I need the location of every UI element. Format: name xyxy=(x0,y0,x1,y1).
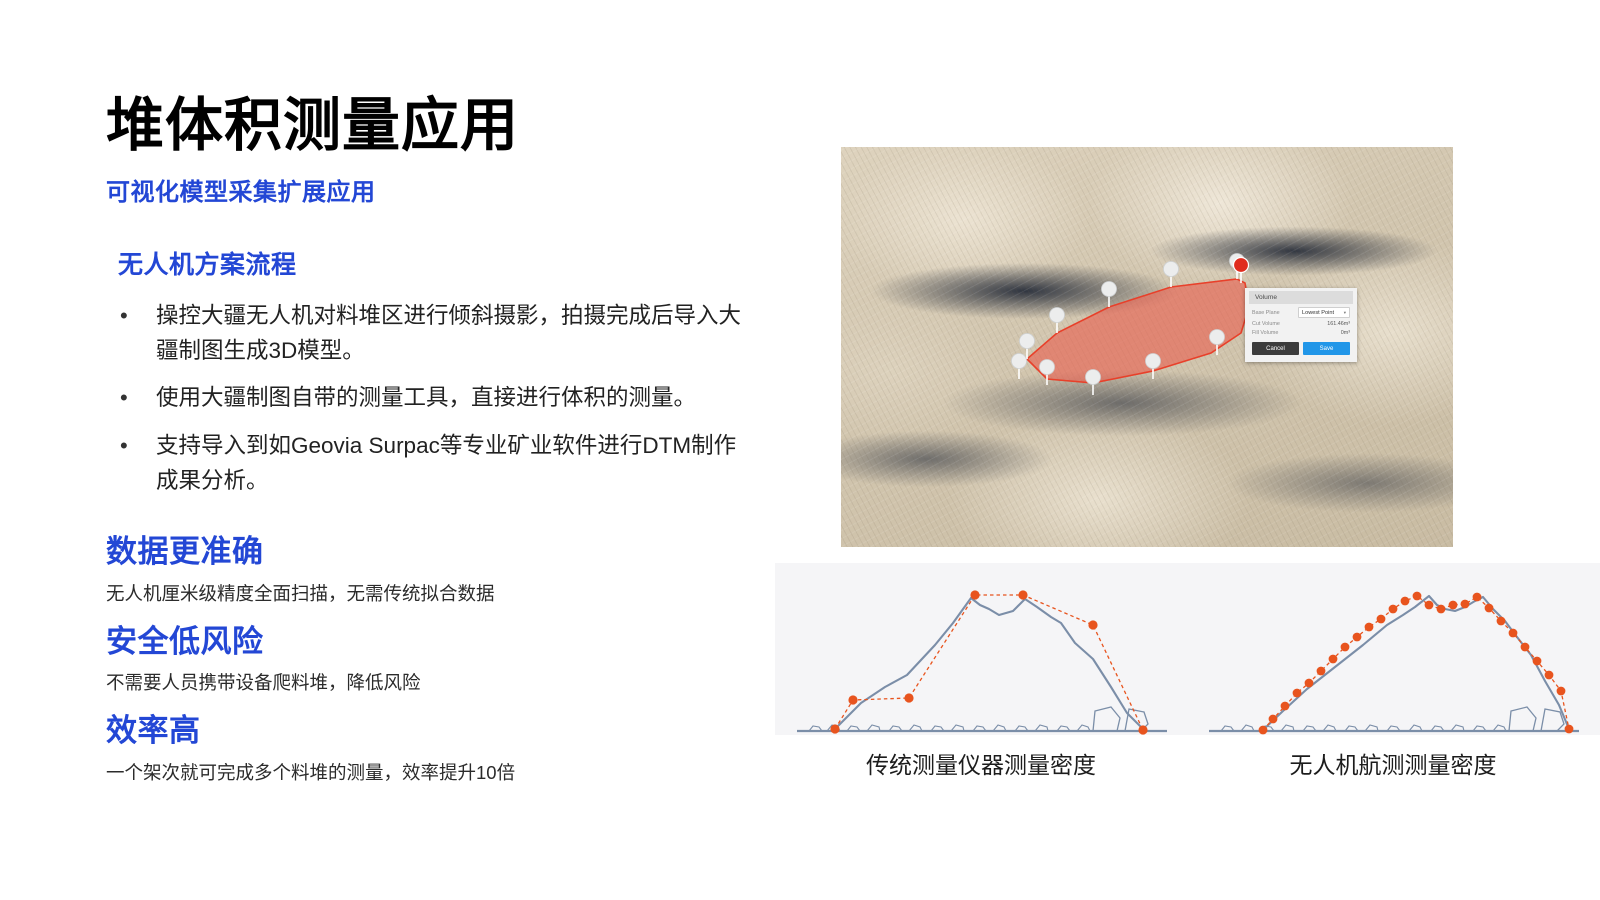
benefit-title: 效率高 xyxy=(106,712,746,751)
bullet-dot-icon: • xyxy=(120,299,128,333)
measurement-overlay-svg xyxy=(841,147,1453,547)
cut-volume-label: Cut Volume xyxy=(1252,321,1280,327)
list-item: • 支持导入到如Geovia Surpac等专业矿业软件进行DTM制作成果分析。 xyxy=(106,429,746,499)
benefit-title: 安全低风险 xyxy=(106,623,746,662)
terrain-profile-line xyxy=(835,598,1143,729)
chevron-down-icon: ▾ xyxy=(1344,310,1346,316)
caption-drone: 无人机航测测量密度 xyxy=(1187,746,1599,780)
workflow-bullet-list: • 操控大疆无人机对料堆区进行倾斜摄影，拍摄完成后导入大疆制图生成3D模型。 •… xyxy=(106,299,746,499)
section-heading-workflow: 无人机方案流程 xyxy=(118,245,746,281)
slide-root: 堆体积测量应用 可视化模型采集扩展应用 无人机方案流程 • 操控大疆无人机对料堆… xyxy=(0,0,1600,900)
aerial-photo-panel: Volume Base Plane Lowest Point ▾ Cut Vol… xyxy=(841,147,1453,547)
benefit-description: 无人机厘米级精度全面扫描，无需传统拟合数据 xyxy=(106,581,746,607)
bullet-dot-icon: • xyxy=(120,429,128,463)
benefit-title: 数据更准确 xyxy=(106,533,746,572)
right-media-column: Volume Base Plane Lowest Point ▾ Cut Vol… xyxy=(775,0,1600,900)
terrain-profile-line xyxy=(1263,596,1569,730)
volume-dialog-actions: Cancel Save xyxy=(1245,336,1357,362)
list-item-text: 操控大疆无人机对料堆区进行倾斜摄影，拍摄完成后导入大疆制图生成3D模型。 xyxy=(156,303,741,363)
fill-volume-label: Fill Volume xyxy=(1252,330,1278,336)
save-button[interactable]: Save xyxy=(1303,342,1350,355)
benefit-description: 一个架次就可完成多个料堆的测量，效率提升10倍 xyxy=(106,760,746,786)
survey-measurement-line xyxy=(1263,596,1569,730)
survey-measurement-line xyxy=(835,595,1143,730)
benefit-accuracy: 数据更准确 无人机厘米级精度全面扫描，无需传统拟合数据 xyxy=(106,533,746,607)
list-item: • 使用大疆制图自带的测量工具，直接进行体积的测量。 xyxy=(106,381,746,416)
list-item: • 操控大疆无人机对料堆区进行倾斜摄影，拍摄完成后导入大疆制图生成3D模型。 xyxy=(106,299,746,369)
page-title: 堆体积测量应用 xyxy=(106,95,746,158)
caption-traditional: 传统测量仪器测量密度 xyxy=(775,746,1187,780)
cut-volume-value: 161.46m³ xyxy=(1327,321,1350,327)
density-comparison-panel xyxy=(775,563,1600,735)
base-plane-row: Base Plane Lowest Point ▾ xyxy=(1245,304,1357,318)
benefits-group: 数据更准确 无人机厘米级精度全面扫描，无需传统拟合数据 安全低风险 不需要人员携… xyxy=(106,533,746,786)
base-plane-select[interactable]: Lowest Point ▾ xyxy=(1298,307,1350,318)
fill-volume-value: 0m³ xyxy=(1341,330,1350,336)
drone-survey-profile-svg xyxy=(1187,563,1599,735)
fill-volume-row: Fill Volume 0m³ xyxy=(1245,327,1357,336)
base-plane-value: Lowest Point xyxy=(1302,310,1334,316)
boulder-shapes xyxy=(1509,707,1564,731)
cut-volume-row: Cut Volume 161.46m³ xyxy=(1245,318,1357,327)
base-plane-label: Base Plane xyxy=(1252,310,1280,316)
bullet-dot-icon: • xyxy=(120,381,128,415)
left-content-column: 堆体积测量应用 可视化模型采集扩展应用 无人机方案流程 • 操控大疆无人机对料堆… xyxy=(106,95,746,802)
traditional-survey-profile-svg xyxy=(775,563,1187,735)
benefit-safety: 安全低风险 不需要人员携带设备爬料堆，降低风险 xyxy=(106,623,746,697)
chart-captions: 传统测量仪器测量密度 无人机航测测量密度 xyxy=(775,746,1600,786)
benefit-efficiency: 效率高 一个架次就可完成多个料堆的测量，效率提升10倍 xyxy=(106,712,746,786)
survey-point-markers xyxy=(1259,592,1574,735)
survey-point-markers xyxy=(830,590,1147,734)
cancel-button[interactable]: Cancel xyxy=(1252,342,1299,355)
volume-dialog-title: Volume xyxy=(1249,291,1353,304)
benefit-description: 不需要人员携带设备爬料堆，降低风险 xyxy=(106,670,746,696)
list-item-text: 支持导入到如Geovia Surpac等专业矿业软件进行DTM制作成果分析。 xyxy=(156,433,736,493)
volume-dialog[interactable]: Volume Base Plane Lowest Point ▾ Cut Vol… xyxy=(1245,288,1357,362)
chart-drone-survey xyxy=(1187,563,1599,735)
chart-traditional-survey xyxy=(775,563,1187,735)
page-subtitle: 可视化模型采集扩展应用 xyxy=(106,172,746,207)
list-item-text: 使用大疆制图自带的测量工具，直接进行体积的测量。 xyxy=(156,385,696,410)
